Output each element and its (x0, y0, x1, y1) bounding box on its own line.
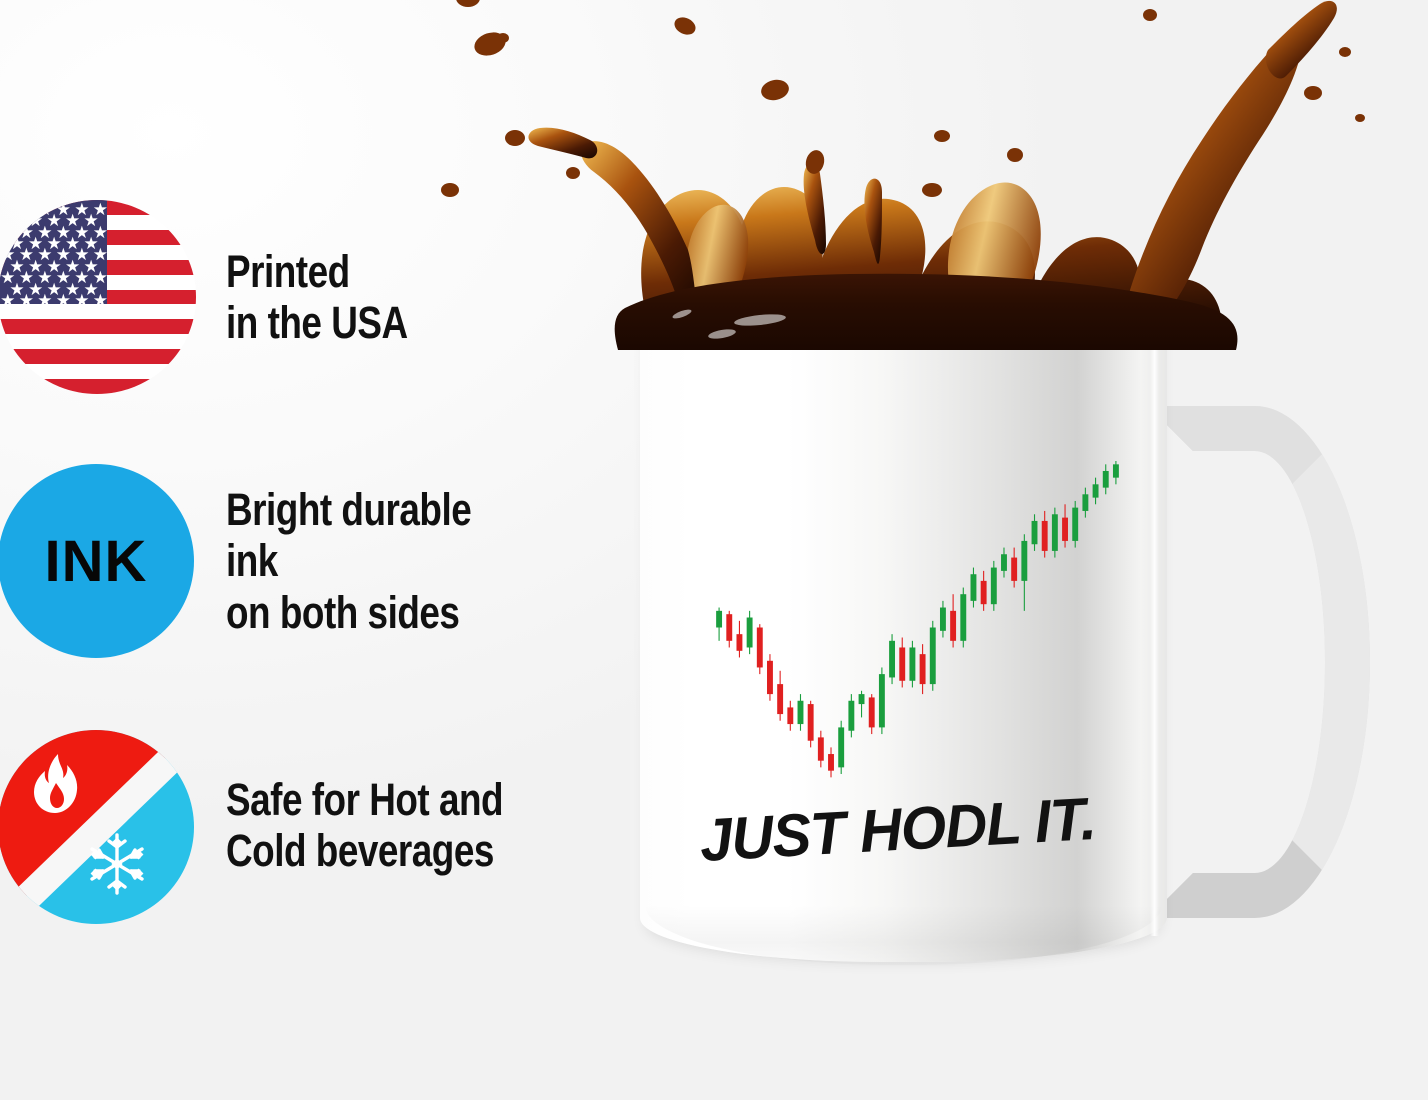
candle-body (777, 684, 783, 714)
mug-right-highlight (1150, 336, 1159, 936)
candle-body (991, 568, 997, 605)
candle-body (848, 701, 854, 731)
candlestick (940, 601, 946, 638)
candlestick (787, 701, 793, 731)
candlestick (1011, 548, 1017, 588)
candlestick (726, 611, 732, 648)
candle-body (940, 608, 946, 631)
candle-body (757, 628, 763, 668)
candle-body (1103, 471, 1109, 488)
candlestick (1062, 504, 1068, 547)
candlestick (899, 637, 905, 687)
candlestick (920, 644, 926, 694)
candlestick (767, 654, 773, 701)
candle-body (981, 581, 987, 604)
candlestick (1001, 548, 1007, 578)
flag-stripe (0, 379, 196, 394)
mug-handle-highlight (1148, 406, 1370, 918)
candle-body (859, 694, 865, 704)
flag-star: ★ (56, 293, 71, 310)
candle-body (828, 754, 834, 771)
candlestick (828, 747, 834, 777)
candle-body (1021, 541, 1027, 581)
candle-body (808, 704, 814, 741)
candle-body (971, 574, 977, 601)
candle-body (747, 618, 753, 648)
splash-arm-right (1129, 33, 1302, 328)
candle-body (920, 654, 926, 684)
candle-body (787, 707, 793, 724)
candlestick (747, 611, 753, 654)
flag-star: ★ (74, 293, 89, 310)
usa-flag-icon: ★★★★★★★★★★★★★★★★★★★★★★★★★★★★★★★★★★★★★★★★… (0, 196, 204, 398)
ink-icon: INK (0, 460, 204, 662)
feature-list: ★★★★★★★★★★★★★★★★★★★★★★★★★★★★★★★★★★★★★★★★… (0, 196, 600, 988)
snowflake-icon (84, 831, 150, 897)
candlestick (808, 701, 814, 748)
candle-body (1113, 464, 1119, 477)
candlestick (960, 588, 966, 648)
candlestick (971, 568, 977, 608)
feature-label-hot-cold-safe: Safe for Hot and Cold beverages (226, 774, 503, 877)
candlestick (981, 571, 987, 611)
candlestick (818, 731, 824, 768)
candle-body (1032, 521, 1038, 544)
candle-body (869, 697, 875, 727)
candlestick (1042, 511, 1048, 558)
candlestick (991, 561, 997, 611)
candlestick (909, 641, 915, 688)
candle-body (1062, 518, 1068, 541)
candle-body (930, 628, 936, 685)
candle-body (1093, 484, 1099, 497)
flag-star: ★ (93, 293, 108, 310)
mug-bottom-shadow (645, 905, 1162, 965)
candle-body (736, 634, 742, 651)
candle-body (1052, 514, 1058, 551)
candlestick (1021, 534, 1027, 611)
candle-body (950, 611, 956, 641)
splash-tendril-left (528, 128, 597, 159)
feature-hot-cold-safe: Safe for Hot and Cold beverages (0, 724, 600, 926)
flag-stripe (0, 334, 196, 349)
candle-body (960, 594, 966, 641)
candle-body (838, 727, 844, 767)
feature-bright-durable-ink: INK Bright durable ink on both sides (0, 460, 600, 662)
candle-body (1001, 554, 1007, 571)
candlestick (757, 624, 763, 674)
flag-star: ★ (19, 293, 34, 310)
feature-printed-in-usa: ★★★★★★★★★★★★★★★★★★★★★★★★★★★★★★★★★★★★★★★★… (0, 196, 600, 398)
candle-body (889, 641, 895, 678)
candlestick (777, 671, 783, 721)
candle-body (767, 661, 773, 694)
candle-body (1072, 508, 1078, 541)
candle-body (1042, 521, 1048, 551)
candle-body (818, 737, 824, 760)
flag-star: ★ (0, 293, 15, 310)
candle-body (879, 674, 885, 727)
hot-cold-icon (0, 724, 204, 926)
candle-body (716, 611, 722, 628)
candlestick (1052, 508, 1058, 558)
candlestick (1082, 488, 1088, 518)
candle-body (798, 701, 804, 724)
candlestick (1113, 461, 1119, 484)
candlestick (1093, 478, 1099, 505)
ink-icon-label: INK (45, 528, 148, 595)
candlestick-chart (710, 455, 1125, 800)
candlestick (736, 621, 742, 658)
candle-body (909, 647, 915, 680)
feature-label-printed-in-usa: Printed in the USA (226, 246, 408, 349)
candlestick (859, 691, 865, 718)
candlestick (798, 694, 804, 731)
flame-icon (33, 753, 79, 815)
candlestick (869, 694, 875, 734)
candlestick (1103, 464, 1109, 494)
candlestick (930, 621, 936, 691)
candlestick (950, 594, 956, 647)
candlestick (889, 634, 895, 684)
candle-body (1082, 494, 1088, 511)
feature-label-bright-durable-ink: Bright durable ink on both sides (226, 484, 533, 638)
candlestick (1072, 501, 1078, 548)
candle-body (726, 614, 732, 641)
candlestick (716, 608, 722, 641)
candle-body (1011, 558, 1017, 581)
candlestick (1032, 514, 1038, 551)
candlestick (838, 721, 844, 774)
flag-stripe (0, 349, 196, 364)
flag-stripe (0, 319, 196, 334)
candlestick (848, 694, 854, 737)
splash-tip-right (1266, 1, 1337, 79)
flag-star: ★ (37, 293, 52, 310)
flag-stripe (0, 364, 196, 379)
product-image-canvas: JUST HODL IT. (0, 0, 1428, 1100)
candle-body (899, 647, 905, 680)
candlestick (879, 667, 885, 734)
